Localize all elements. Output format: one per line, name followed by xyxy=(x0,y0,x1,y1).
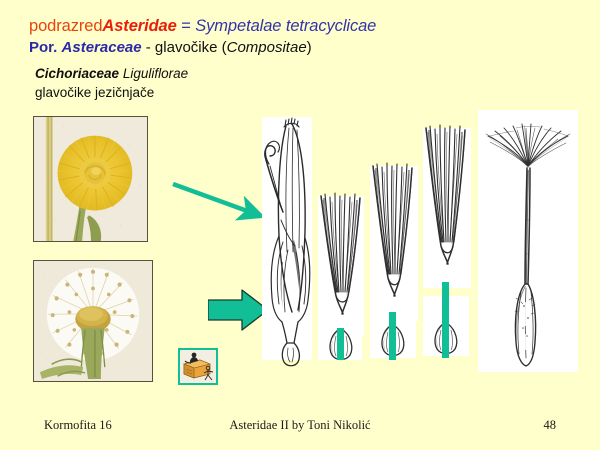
title-common-name: - glavočike ( xyxy=(142,39,227,56)
dandelion-flower-photo xyxy=(33,116,148,242)
footer-page-number: 48 xyxy=(544,418,557,433)
title-close-paren: ) xyxy=(307,39,312,56)
subheading-line-1: Cichoriaceae Liguliflorae xyxy=(35,64,188,83)
title-line-1: podrazredAsteridae = Sympetalae tetracyc… xyxy=(29,16,589,37)
title-line-2: Por. Asteraceae - glavočike (Compositae) xyxy=(29,38,589,58)
dandelion-flower-image xyxy=(34,117,147,241)
subheading-liguliflorae: Liguliflorae xyxy=(123,66,188,81)
title-synonym-compositae: Compositae xyxy=(227,39,307,56)
title-block: podrazredAsteridae = Sympetalae tetracyc… xyxy=(29,16,589,58)
connector-stem-2 xyxy=(389,312,396,360)
title-rank-word: podrazred xyxy=(29,17,102,35)
title-taxon-asteridae: Asteridae xyxy=(102,17,176,35)
slide: podrazredAsteridae = Sympetalae tetracyc… xyxy=(0,0,600,450)
title-rank-abbr: Por. xyxy=(29,39,57,56)
desk-clipart-icon[interactable] xyxy=(178,348,218,385)
connector-stem-1 xyxy=(337,328,344,360)
footer-center-text: Asteridae II by Toni Nikolić xyxy=(229,418,370,433)
subheading-line-2: glavočike jezičnjače xyxy=(35,83,188,102)
title-family-asteraceae: Asteraceae xyxy=(62,39,142,56)
subheading-family-cichoriaceae: Cichoriaceae xyxy=(35,66,119,81)
subheading-block: Cichoriaceae Liguliflorae glavočike jezi… xyxy=(35,64,188,102)
dandelion-seedhead-image xyxy=(34,261,152,381)
title-synonym-sympetalae: Sympetalae tetracyclicae xyxy=(195,17,376,35)
diagonal-arrow xyxy=(168,172,268,228)
footer-left-text: Kormofita 16 xyxy=(44,418,112,433)
title-equals-sign: = xyxy=(177,17,196,35)
connector-stem-3 xyxy=(442,282,449,358)
footer: Kormofita 16 Asteridae II by Toni Nikoli… xyxy=(0,418,600,438)
dandelion-achene-illustration xyxy=(476,108,580,374)
desk-clipart-image xyxy=(180,350,216,383)
pappus-achene-illustration-3 xyxy=(421,124,473,289)
ligulate-floret-illustration xyxy=(258,112,320,368)
dandelion-seedhead-photo xyxy=(33,260,153,382)
